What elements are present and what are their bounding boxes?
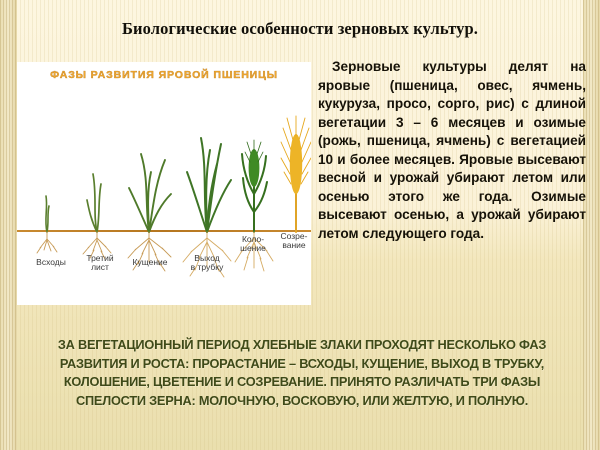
stage-label-tillering: Кущение bbox=[121, 258, 179, 267]
caption-line-1: ЗА ВЕГЕТАЦИОННЫЙ ПЕРИОД ХЛЕБНЫЕ ЗЛАКИ ПР… bbox=[23, 336, 582, 355]
slide-root: Биологические особенности зерновых культ… bbox=[0, 0, 600, 450]
stage-label-third-leaf: Третий лист bbox=[75, 254, 125, 272]
plant-stage-heading bbox=[231, 134, 277, 280]
bottom-caption: ЗА ВЕГЕТАЦИОННЫЙ ПЕРИОД ХЛЕБНЫЕ ЗЛАКИ ПР… bbox=[23, 336, 582, 411]
diagram-title: ФАЗЫ РАЗВИТИЯ ЯРОВОЙ ПШЕНИЦЫ bbox=[17, 69, 311, 81]
plant-stage-ripening bbox=[273, 114, 311, 234]
caption-line-2: РАЗВИТИЯ И РОСТА: ПРОРАСТАНИЕ – ВСХОДЫ, … bbox=[23, 355, 582, 374]
caption-line-4: СПЕЛОСТИ ЗЕРНА: МОЛОЧНУЮ, ВОСКОВУЮ, ИЛИ … bbox=[23, 392, 582, 411]
stage-label-ripening: Созре- вание bbox=[271, 232, 311, 250]
body-paragraph: Зерновые культуры делят на яровые (пшени… bbox=[318, 58, 586, 243]
wheat-phases-diagram: ФАЗЫ РАЗВИТИЯ ЯРОВОЙ ПШЕНИЦЫ Всходы bbox=[17, 62, 311, 305]
stage-label-heading: Коло- шение bbox=[229, 235, 277, 253]
stage-label-seedling: Всходы bbox=[25, 258, 77, 267]
page-title: Биологические особенности зерновых культ… bbox=[0, 19, 600, 39]
caption-line-3: КОЛОШЕНИЕ, ЦВЕТЕНИЕ И СОЗРЕВАНИЕ. ПРИНЯТ… bbox=[23, 373, 582, 392]
stage-label-stem-extension: Выход в трубку bbox=[177, 254, 237, 272]
left-edge-band bbox=[0, 0, 17, 450]
